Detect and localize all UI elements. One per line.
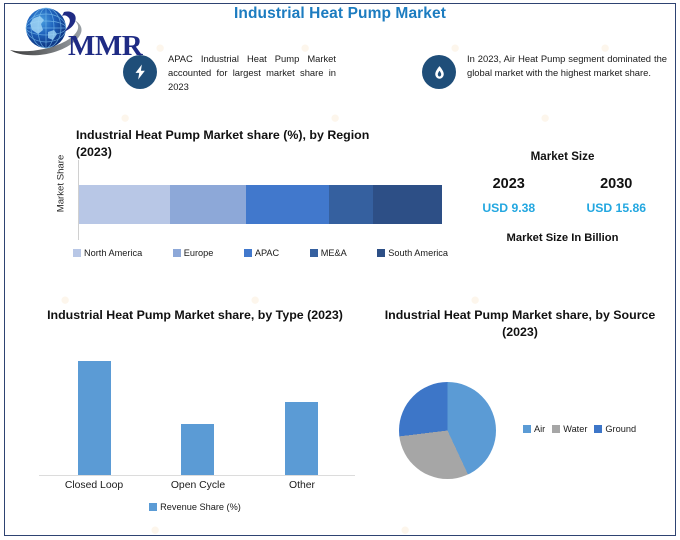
type-chart: Closed Loop Open Cycle Other Revenue Sha… — [35, 350, 365, 535]
market-size-value: USD 15.86 — [568, 201, 664, 215]
legend-swatch-icon — [377, 249, 385, 257]
legend-label: Water — [563, 424, 587, 434]
legend-swatch-icon — [552, 425, 560, 433]
region-chart: Market Share North America Europe APAC — [48, 160, 448, 272]
legend-item-mea[interactable]: ME&A — [310, 248, 347, 258]
callout-air: In 2023, Air Heat Pump segment dominated… — [422, 52, 670, 89]
legend-swatch-icon — [523, 425, 531, 433]
type-xlabel-open-cycle: Open Cycle — [171, 480, 225, 491]
legend-label: Revenue Share (%) — [160, 502, 241, 512]
legend-swatch-icon — [594, 425, 602, 433]
legend-label: APAC — [255, 248, 279, 258]
flame-drop-glyph — [431, 64, 448, 81]
market-size-panel: Market Size 2023 USD 9.38 2030 USD 15.86… — [455, 150, 670, 244]
callout-apac: APAC Industrial Heat Pump Market account… — [123, 52, 338, 95]
region-segment-south-america[interactable] — [373, 185, 442, 224]
legend-swatch-icon — [149, 503, 157, 511]
legend-swatch-icon — [310, 249, 318, 257]
legend-item-apac[interactable]: APAC — [244, 248, 279, 258]
lightning-bolt-icon — [123, 55, 157, 89]
callout-apac-text: APAC Industrial Heat Pump Market account… — [168, 52, 336, 95]
page-title: Industrial Heat Pump Market — [0, 5, 680, 23]
region-segment-europe[interactable] — [170, 185, 246, 224]
region-chart-title: Industrial Heat Pump Market share (%), b… — [76, 127, 406, 161]
legend-label: Ground — [605, 424, 636, 434]
legend-item-air[interactable]: Air — [523, 424, 545, 434]
market-size-footer: Market Size In Billion — [455, 232, 670, 244]
watermark-dot: ● — [330, 108, 340, 128]
legend-label: ME&A — [321, 248, 347, 258]
type-chart-legend: Revenue Share (%) — [35, 502, 355, 512]
type-xlabel-closed-loop: Closed Loop — [65, 480, 123, 491]
region-stacked-bar — [79, 185, 442, 224]
watermark-dot: ● — [120, 108, 130, 128]
market-size-year: 2023 — [461, 176, 557, 192]
type-chart-xaxis: Closed Loop Open Cycle Other — [35, 480, 355, 496]
region-segment-mea[interactable] — [329, 185, 373, 224]
legend-swatch-icon — [244, 249, 252, 257]
type-bar-closed-loop[interactable] — [78, 361, 111, 475]
type-bar-other[interactable] — [285, 402, 318, 475]
market-size-value: USD 9.38 — [461, 201, 557, 215]
region-segment-apac[interactable] — [246, 185, 329, 224]
market-size-entry-2023: 2023 USD 9.38 — [461, 176, 557, 215]
market-size-values: 2023 USD 9.38 2030 USD 15.86 — [455, 176, 670, 215]
type-chart-plot — [35, 350, 355, 476]
infographic-canvas: ● ● ● ● ● ● ● ● ● ● ● ● — [0, 0, 680, 539]
region-segment-north-america[interactable] — [79, 185, 170, 224]
legend-item-ground[interactable]: Ground — [594, 424, 636, 434]
source-chart: Air Water Ground — [375, 348, 670, 533]
legend-item-revenue-share[interactable]: Revenue Share (%) — [149, 502, 241, 512]
legend-item-south-america[interactable]: South America — [377, 248, 448, 258]
type-chart-title: Industrial Heat Pump Market share, by Ty… — [45, 307, 345, 324]
legend-item-water[interactable]: Water — [552, 424, 587, 434]
source-chart-legend: Air Water Ground — [523, 424, 643, 434]
type-xlabel-other: Other — [289, 480, 315, 491]
watermark-dot: ● — [540, 108, 550, 128]
type-bar-open-cycle[interactable] — [181, 424, 214, 475]
market-size-heading: Market Size — [455, 150, 670, 163]
legend-label: Europe — [184, 248, 214, 258]
source-pie[interactable] — [399, 382, 496, 479]
legend-swatch-icon — [173, 249, 181, 257]
market-size-entry-2030: 2030 USD 15.86 — [568, 176, 664, 215]
flame-drop-icon — [422, 55, 456, 89]
type-chart-baseline — [39, 475, 355, 476]
region-chart-legend: North America Europe APAC ME&A South Ame… — [73, 248, 448, 258]
legend-item-north-america[interactable]: North America — [73, 248, 142, 258]
legend-label: Air — [534, 424, 545, 434]
market-size-year: 2030 — [568, 176, 664, 192]
callout-air-text: In 2023, Air Heat Pump segment dominated… — [467, 52, 667, 80]
legend-item-europe[interactable]: Europe — [173, 248, 214, 258]
legend-label: North America — [84, 248, 142, 258]
region-chart-ylabel: Market Share — [56, 149, 67, 219]
lightning-bolt-glyph — [131, 63, 149, 81]
source-chart-title: Industrial Heat Pump Market share, by So… — [375, 307, 665, 341]
legend-swatch-icon — [73, 249, 81, 257]
legend-label: South America — [388, 248, 448, 258]
